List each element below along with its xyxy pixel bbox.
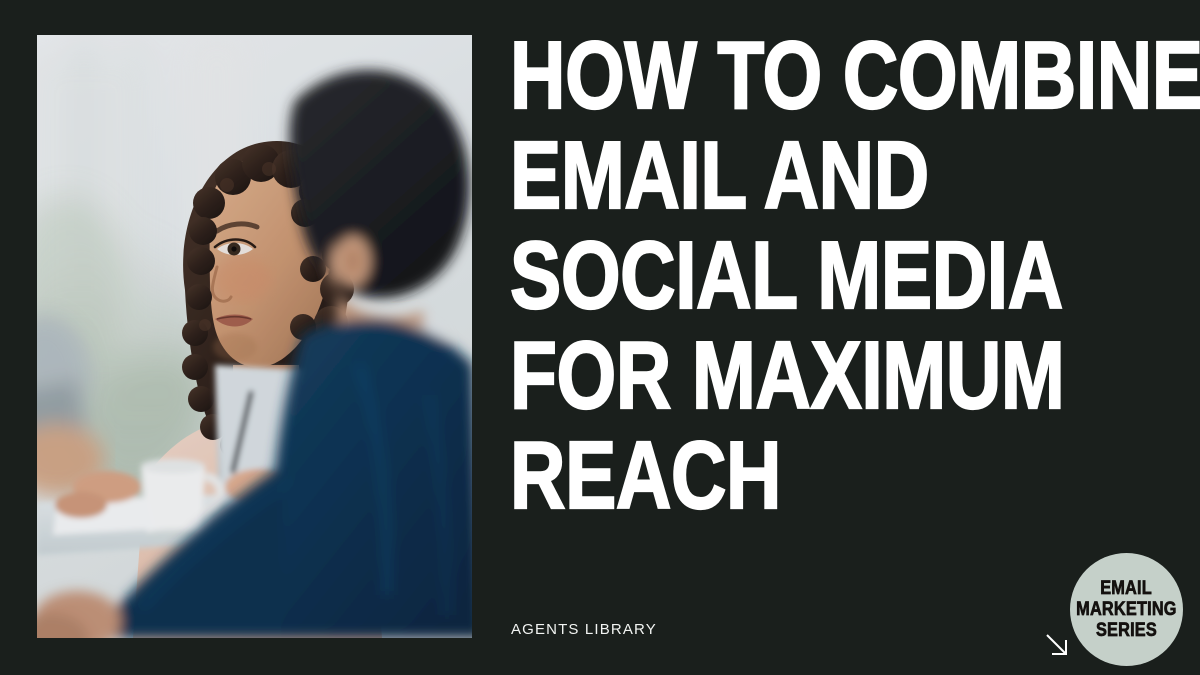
photo-illustration — [37, 35, 472, 638]
badge-line-1: EMAIL — [1101, 578, 1153, 599]
headline-line-5: REACH — [510, 426, 1006, 526]
page-title: HOW TO COMBINE EMAIL AND SOCIAL MEDIA FO… — [510, 26, 1130, 526]
badge-line-3: SERIES — [1096, 620, 1157, 641]
headline-line-1: HOW TO COMBINE — [510, 26, 1006, 126]
headline-line-4: FOR MAXIMUM — [510, 326, 1006, 426]
headline-line-2: EMAIL AND — [510, 126, 1006, 226]
brand-byline: AGENTS LIBRARY — [511, 621, 657, 638]
headline-line-3: SOCIAL MEDIA — [510, 226, 1006, 326]
arrow-down-right-icon — [1042, 630, 1072, 660]
status-badge: EMAIL MARKETING SERIES — [1070, 553, 1183, 666]
cover-photo — [37, 35, 472, 638]
badge-line-2: MARKETING — [1076, 599, 1176, 620]
cover-canvas: HOW TO COMBINE EMAIL AND SOCIAL MEDIA FO… — [0, 0, 1200, 675]
